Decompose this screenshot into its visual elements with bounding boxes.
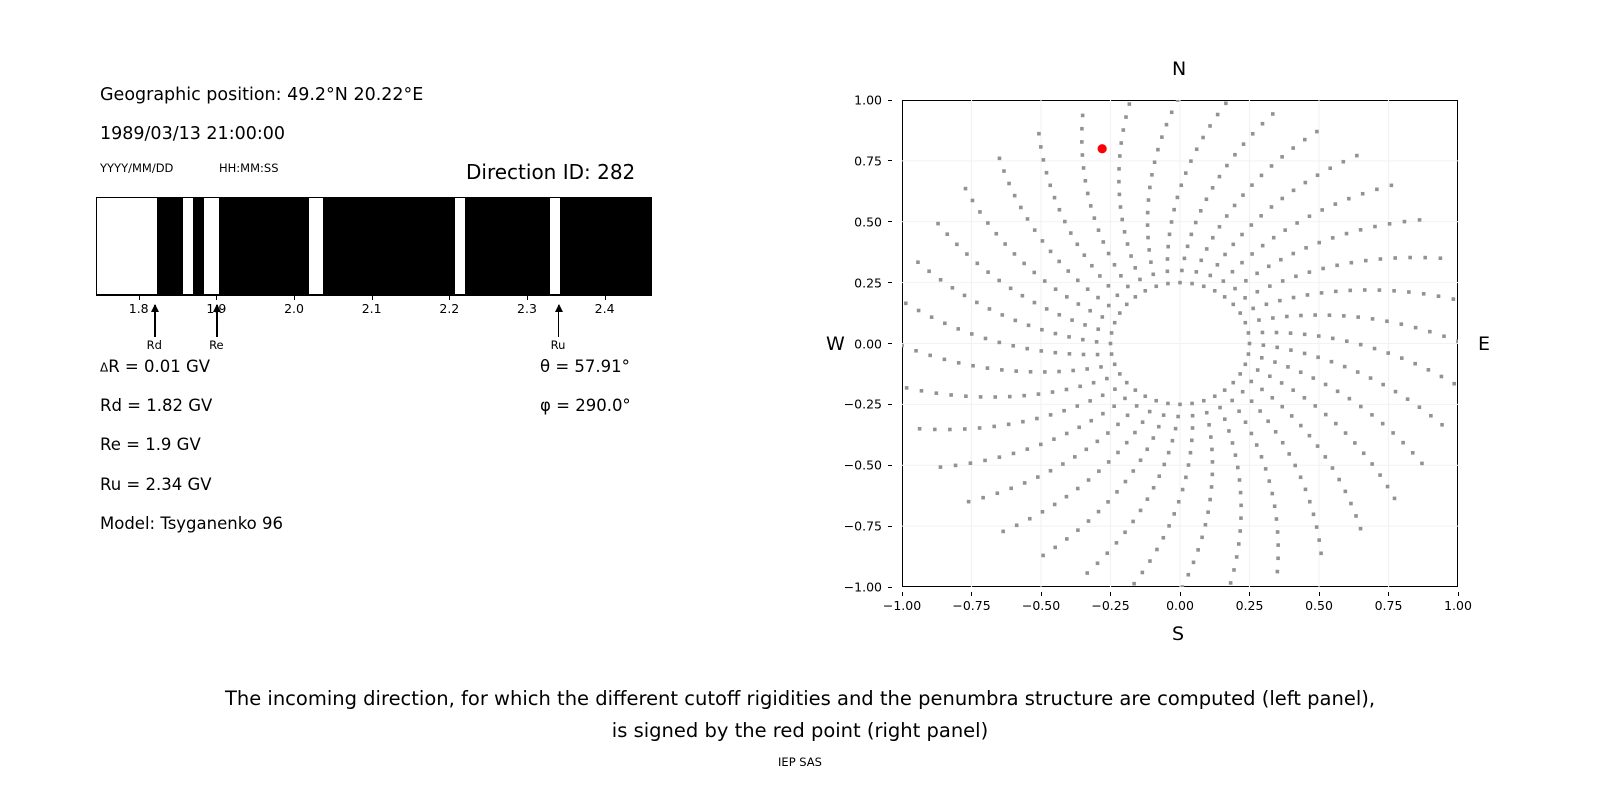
direction-point [927, 269, 931, 273]
direction-point [1167, 451, 1171, 455]
model-value: Model: Tsyganenko 96 [100, 514, 283, 533]
direction-point [1076, 487, 1080, 491]
direction-point [1085, 571, 1089, 575]
direction-point [1334, 202, 1338, 206]
direction-point [905, 386, 909, 390]
direction-point [1067, 335, 1071, 339]
direction-point [1007, 423, 1011, 427]
direction-point [1157, 425, 1161, 429]
direction-point [1264, 467, 1268, 471]
direction-point [1146, 236, 1150, 240]
cutoff-marker-label: Rd [147, 338, 162, 352]
direction-point [1096, 353, 1100, 357]
direction-point [1110, 331, 1114, 335]
direction-point [1076, 528, 1080, 532]
direction-point [1335, 264, 1339, 268]
direction-point [1348, 289, 1352, 293]
direction-point [1386, 351, 1390, 355]
direction-point [1364, 259, 1368, 263]
sky-map-x-tick-mark [1458, 592, 1459, 596]
direction-point [1083, 323, 1087, 327]
direction-point [976, 262, 980, 266]
direction-point [1281, 279, 1285, 283]
direction-point [1420, 462, 1424, 466]
direction-point [1080, 127, 1084, 131]
direction-point [967, 500, 971, 504]
direction-point [956, 327, 960, 331]
direction-point [1019, 206, 1023, 210]
direction-point [1032, 271, 1036, 275]
direction-point [1206, 510, 1210, 514]
penumbra-open-band [204, 198, 220, 294]
direction-point [1232, 568, 1236, 572]
direction-point [1109, 342, 1113, 346]
direction-point [992, 425, 996, 429]
direction-point [1429, 414, 1433, 418]
sky-map-y-tick-mark [888, 526, 892, 527]
direction-point [1306, 293, 1310, 297]
direction-point [1211, 460, 1215, 464]
compass-west-label: W [826, 333, 845, 355]
direction-point [1119, 141, 1123, 145]
direction-point [1205, 247, 1209, 251]
direction-point [1237, 409, 1241, 413]
direction-point [1280, 381, 1284, 385]
direction-point [1233, 204, 1237, 208]
direction-point [1414, 326, 1418, 330]
direction-point [1003, 242, 1007, 246]
direction-point [1054, 332, 1058, 336]
direction-point [1084, 448, 1088, 452]
direction-point [1075, 242, 1079, 246]
direction-point [1033, 301, 1037, 305]
direction-point [1331, 466, 1335, 470]
direction-point [1088, 309, 1092, 313]
direction-point [1051, 390, 1055, 394]
direction-point [1257, 318, 1261, 322]
direction-point [1266, 419, 1270, 423]
re-value: Re = 1.9 GV [100, 435, 201, 454]
caption-line-2: is signed by the red point (right panel) [0, 719, 1600, 742]
direction-point [1106, 431, 1110, 435]
direction-point [1039, 443, 1043, 447]
direction-point [1210, 448, 1214, 452]
direction-point [1125, 441, 1129, 445]
direction-point [943, 322, 947, 326]
direction-point [1065, 495, 1069, 499]
direction-point [954, 464, 958, 468]
direction-point [1223, 253, 1227, 257]
direction-point [904, 302, 908, 306]
direction-point [1324, 383, 1328, 387]
direction-point [1289, 331, 1293, 335]
direction-point [1076, 279, 1080, 283]
direction-point [1131, 520, 1135, 524]
direction-point [1321, 267, 1325, 271]
direction-point [1250, 183, 1254, 187]
direction-point [1129, 254, 1133, 258]
direction-point [1041, 554, 1045, 558]
direction-point [1162, 536, 1166, 540]
sky-map-y-tick-label: −0.75 [844, 519, 882, 534]
direction-point [930, 315, 934, 319]
direction-point [986, 366, 990, 370]
ru-value: Ru = 2.34 GV [100, 475, 212, 494]
direction-point [1370, 462, 1374, 466]
direction-point [1192, 561, 1196, 565]
direction-point [1267, 264, 1271, 268]
direction-point [1022, 262, 1026, 266]
direction-point [1170, 110, 1174, 114]
direction-point [1362, 451, 1366, 455]
direction-point [1071, 369, 1075, 373]
direction-point [1343, 365, 1347, 369]
direction-point [1132, 582, 1136, 586]
sky-map-y-tick-mark [888, 100, 892, 101]
direction-point [1145, 447, 1149, 451]
direction-id-text: Direction ID: 282 [466, 160, 635, 184]
sky-map-x-tick-mark [1041, 592, 1042, 596]
direction-point [1224, 102, 1228, 106]
direction-point [969, 461, 973, 465]
direction-point [1242, 142, 1246, 146]
direction-point [1281, 441, 1285, 445]
direction-point [1353, 441, 1357, 445]
direction-point [1250, 432, 1254, 436]
direction-point [1101, 393, 1105, 397]
direction-point [1083, 253, 1087, 257]
arrow-up-icon [151, 304, 159, 312]
direction-point [1116, 451, 1120, 455]
direction-point [1359, 527, 1363, 531]
direction-point [1187, 463, 1191, 467]
direction-point [1270, 492, 1274, 496]
direction-point [1000, 368, 1004, 372]
direction-point [1304, 246, 1308, 250]
direction-point [1355, 154, 1359, 158]
direction-point [1345, 339, 1349, 343]
direction-point [1278, 299, 1282, 303]
direction-point [1418, 218, 1422, 222]
datetime-text: 1989/03/13 21:00:00 [100, 124, 285, 144]
direction-point [1386, 485, 1390, 489]
direction-point [1190, 233, 1194, 237]
direction-point [1096, 327, 1100, 331]
direction-point [1303, 138, 1307, 142]
direction-point [1065, 537, 1069, 541]
direction-point [1116, 293, 1120, 297]
direction-point [1328, 166, 1332, 170]
direction-point [1208, 498, 1212, 502]
direction-point [1041, 510, 1045, 514]
direction-point [1097, 469, 1101, 473]
direction-point [917, 309, 921, 313]
cutoff-marker-label: Ru [551, 338, 566, 352]
direction-point [1141, 571, 1145, 575]
direction-point [1096, 440, 1100, 444]
direction-point [933, 428, 937, 432]
direction-point [1202, 399, 1206, 403]
direction-point [1013, 319, 1017, 323]
direction-point [1317, 241, 1321, 245]
direction-point [1262, 343, 1266, 347]
direction-point [1268, 374, 1272, 378]
sky-map-x-tick-mark [1388, 592, 1389, 596]
direction-point [1231, 303, 1235, 307]
direction-point [1117, 180, 1121, 184]
direction-point [1331, 236, 1335, 240]
direction-point [1211, 473, 1215, 477]
direction-point [949, 393, 953, 397]
direction-point [1190, 402, 1194, 406]
direction-point [1009, 487, 1013, 491]
direction-point [1139, 458, 1143, 462]
direction-point [1385, 319, 1389, 323]
direction-point [1291, 388, 1295, 392]
direction-point [1280, 197, 1284, 201]
direction-point [1063, 220, 1067, 224]
direction-point [1216, 113, 1220, 117]
direction-point [1135, 404, 1139, 408]
direction-point [1244, 363, 1248, 367]
direction-point [1225, 214, 1229, 218]
direction-point [1123, 230, 1127, 234]
direction-point [945, 232, 949, 236]
direction-point [1233, 153, 1237, 157]
direction-point [1276, 556, 1280, 560]
sky-map-y-tick-label: 1.00 [854, 93, 882, 108]
direction-point [1247, 352, 1251, 356]
direction-point [1054, 287, 1058, 291]
direction-point [1229, 581, 1233, 585]
direction-point [1189, 159, 1193, 163]
direction-point [1029, 370, 1033, 374]
direction-point [1239, 491, 1243, 495]
direction-point [1121, 128, 1125, 132]
direction-point [1261, 122, 1265, 126]
direction-point [1174, 427, 1178, 431]
direction-point [1238, 311, 1242, 315]
sky-map-y-tick-mark [888, 465, 892, 466]
direction-point [1125, 303, 1129, 307]
sky-map-x-tick-label: 0.00 [1166, 598, 1194, 613]
direction-point [1097, 510, 1101, 514]
direction-point [1241, 193, 1245, 197]
direction-point [1153, 160, 1157, 164]
direction-point [1107, 460, 1111, 464]
direction-point [955, 243, 959, 247]
direction-point [1134, 388, 1138, 392]
direction-point [970, 332, 974, 336]
direction-point [1021, 420, 1025, 424]
penumbra-open-band [97, 198, 157, 294]
direction-point [1283, 228, 1287, 232]
sky-map-x-tick-label: 0.50 [1305, 598, 1333, 613]
rd-value: Rd = 1.82 GV [100, 396, 212, 415]
direction-point [948, 428, 952, 432]
direction-point [1013, 194, 1017, 198]
sky-map-x-tick-label: 1.00 [1444, 598, 1472, 613]
direction-point [1081, 153, 1085, 157]
direction-point [1068, 352, 1072, 356]
direction-point [1270, 164, 1274, 168]
direction-point [1022, 394, 1026, 398]
direction-point [1205, 411, 1209, 415]
direction-point [1223, 417, 1227, 421]
direction-point [1331, 337, 1335, 341]
direction-point [1303, 396, 1307, 400]
direction-point [1053, 546, 1057, 550]
direction-point [1124, 480, 1128, 484]
direction-point [1359, 228, 1363, 232]
direction-point [1058, 208, 1062, 212]
left-panel: Geographic position: 49.2°N 20.22°E 1989… [0, 0, 760, 620]
direction-point [1237, 542, 1241, 546]
direction-point [1070, 318, 1074, 322]
direction-point [939, 465, 943, 469]
direction-point [1199, 209, 1203, 213]
direction-point [1150, 173, 1154, 177]
direction-point [1303, 352, 1307, 356]
direction-point [957, 361, 961, 365]
direction-point [1087, 519, 1091, 523]
direction-point [1456, 340, 1458, 344]
direction-point [1039, 145, 1043, 149]
direction-point [1152, 486, 1156, 490]
direction-point [1092, 381, 1096, 385]
sky-map-x-tick-mark [902, 592, 903, 596]
cutoff-marker-label: Re [209, 338, 224, 352]
direction-point [1115, 541, 1119, 545]
direction-point [986, 270, 990, 274]
direction-point [1251, 307, 1255, 311]
direction-point [1134, 295, 1138, 299]
direction-point [1066, 269, 1070, 273]
direction-point [1356, 315, 1360, 319]
sky-map-y-tick-mark [888, 160, 892, 161]
direction-point [981, 496, 985, 500]
direction-point [1259, 214, 1263, 218]
direction-point [1125, 381, 1129, 385]
penumbra-strip-container [96, 197, 652, 295]
direction-point [1062, 409, 1066, 413]
direction-point [916, 260, 920, 264]
direction-point [939, 278, 943, 282]
direction-point [1308, 434, 1312, 438]
direction-point [1166, 245, 1170, 249]
direction-point [1037, 392, 1041, 396]
direction-point [1061, 462, 1065, 466]
direction-point [1207, 423, 1211, 427]
sky-map-x-axis: −1.00−0.75−0.50−0.250.000.250.500.751.00 [902, 592, 1458, 622]
direction-point [1320, 208, 1324, 212]
sky-map-x-tick-mark [1249, 592, 1250, 596]
direction-point [935, 391, 939, 395]
direction-point [1194, 221, 1198, 225]
direction-point [1243, 296, 1247, 300]
direction-point [1235, 555, 1239, 559]
direction-point [1025, 347, 1029, 351]
direction-point [1293, 464, 1297, 468]
direction-point [1011, 344, 1015, 348]
direction-point [1057, 260, 1061, 264]
direction-point [1172, 512, 1176, 516]
direction-point [1265, 302, 1269, 306]
direction-point [1361, 192, 1365, 196]
direction-point [1251, 132, 1255, 136]
direction-point [1053, 196, 1057, 200]
direction-point [1023, 481, 1027, 485]
direction-point [1218, 175, 1222, 179]
time-format-label: HH:MM:SS [219, 161, 279, 175]
direction-point [1021, 294, 1025, 298]
direction-point [1035, 417, 1039, 421]
direction-point [1378, 288, 1382, 292]
direction-point [1354, 514, 1358, 518]
direction-point [1255, 443, 1259, 447]
direction-point [1342, 314, 1346, 318]
direction-point [1280, 155, 1284, 159]
penumbra-open-band [183, 198, 193, 294]
direction-point [1244, 420, 1248, 424]
direction-point [1238, 529, 1242, 533]
direction-point [1106, 500, 1110, 504]
penumbra-open-band [455, 198, 465, 294]
direction-point [1348, 397, 1352, 401]
direction-point [997, 279, 1001, 283]
direction-point [994, 232, 998, 236]
direction-point [1183, 257, 1187, 261]
direction-point [1250, 223, 1254, 227]
direction-point [1299, 424, 1303, 428]
direction-point [1223, 295, 1227, 299]
direction-point [1080, 140, 1084, 144]
direction-point [1049, 250, 1053, 254]
direction-point [1359, 405, 1363, 409]
direction-point [1240, 261, 1244, 265]
direction-point [1210, 485, 1214, 489]
direction-point [1118, 311, 1122, 315]
direction-point [1239, 516, 1243, 520]
direction-point [1049, 469, 1053, 473]
direction-point [1241, 390, 1245, 394]
direction-point [1073, 455, 1077, 459]
direction-point [1272, 236, 1276, 240]
direction-point [1100, 315, 1104, 319]
direction-point [1160, 135, 1164, 139]
direction-point [1186, 245, 1190, 249]
direction-point [1239, 504, 1243, 508]
direction-point [1043, 370, 1047, 374]
date-format-label: YYYY/MM/DD [100, 161, 173, 175]
direction-point [1422, 292, 1426, 296]
sky-map-y-tick-label: 0.75 [854, 153, 882, 168]
direction-point [1110, 352, 1114, 356]
sky-map-y-tick-mark [888, 587, 892, 588]
direction-point [1181, 488, 1185, 492]
direction-point [1227, 429, 1231, 433]
sky-map-y-tick-label: −0.25 [844, 397, 882, 412]
direction-point [1324, 413, 1328, 417]
direction-point [1015, 523, 1019, 527]
direction-point [1381, 383, 1385, 387]
sky-map-x-tick-mark [1110, 592, 1111, 596]
direction-point [1184, 476, 1188, 480]
direction-point [1273, 504, 1277, 508]
delta-r-text: R = 0.01 GV [108, 357, 210, 376]
direction-point [1168, 233, 1172, 237]
direction-point [1345, 232, 1349, 236]
